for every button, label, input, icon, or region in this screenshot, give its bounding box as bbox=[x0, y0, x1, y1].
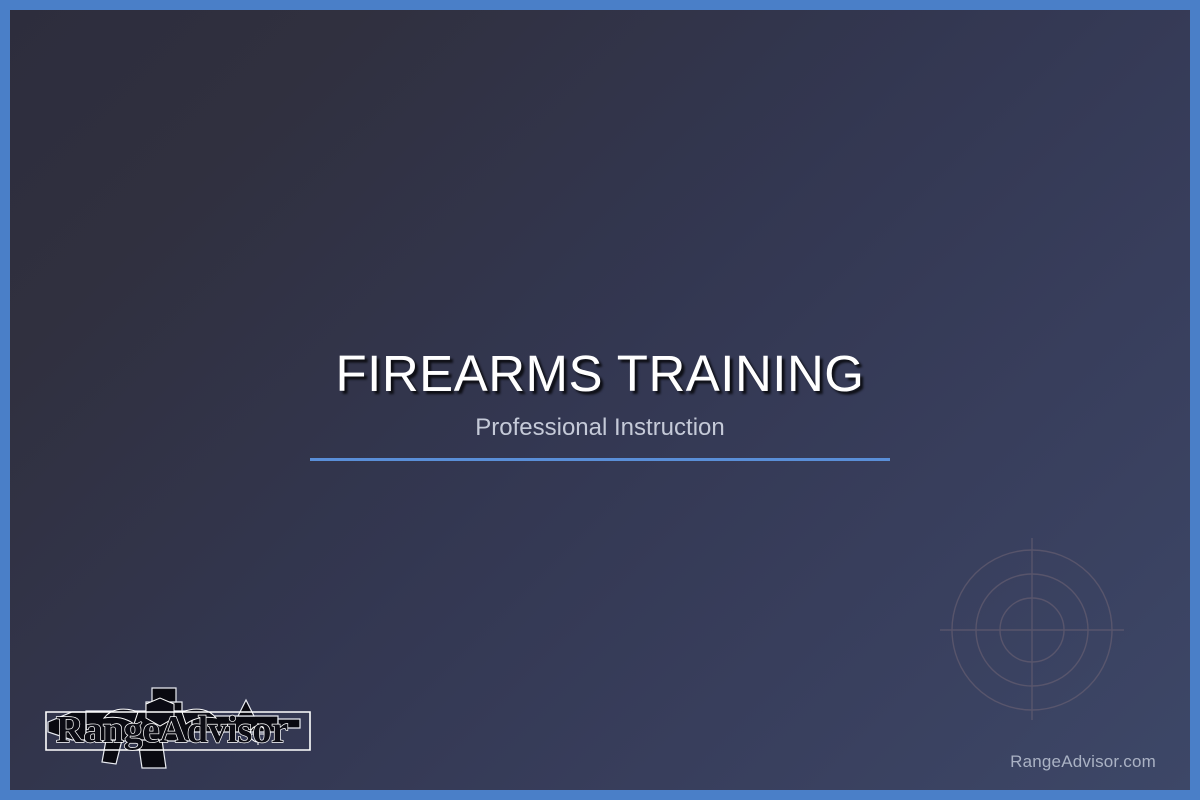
logo-artwork: RangeAdvisor bbox=[46, 688, 310, 768]
logo-wordmark: RangeAdvisor bbox=[56, 709, 288, 751]
page-subtitle: Professional Instruction bbox=[10, 413, 1190, 443]
presentation-slide: FIREARMS TRAINING Professional Instructi… bbox=[0, 0, 1200, 800]
page-title: FIREARMS TRAINING bbox=[10, 345, 1190, 403]
slide-canvas: FIREARMS TRAINING Professional Instructi… bbox=[10, 10, 1190, 790]
brand-logo: RangeAdvisor bbox=[42, 678, 314, 770]
title-block: FIREARMS TRAINING Professional Instructi… bbox=[10, 345, 1190, 461]
crosshair-target-icon bbox=[932, 520, 1132, 720]
title-accent-rule bbox=[310, 458, 890, 461]
footer-website-url: RangeAdvisor.com bbox=[1010, 752, 1156, 772]
